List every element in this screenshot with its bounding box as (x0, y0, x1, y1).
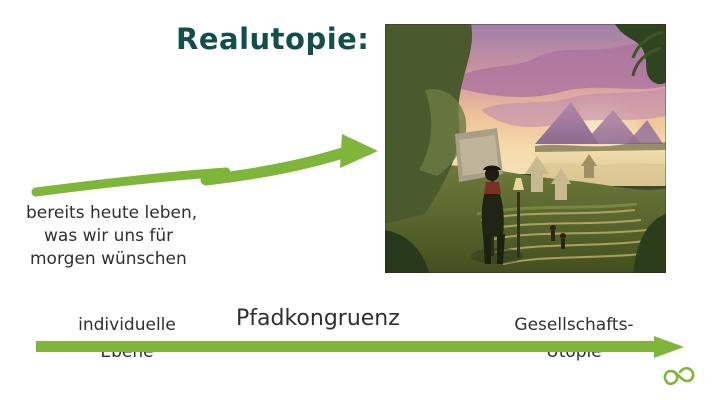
caption-line-1: bereits heute leben, (22, 202, 272, 225)
axis-center-label: Pfadkongruenz (236, 306, 400, 331)
horizontal-axis-arrow (36, 336, 684, 358)
slide-canvas: Realutopie: (0, 0, 711, 400)
utopian-landscape-painting (385, 24, 666, 273)
caption-line-3: morgen wünschen (22, 248, 272, 271)
page-title: Realutopie: (176, 22, 369, 56)
curved-arrow-to-illustration (20, 130, 420, 210)
infinity-loop-logo (662, 362, 696, 390)
arrow-caption: bereits heute leben, was wir uns für mor… (22, 202, 272, 271)
caption-line-2: was wir uns für (22, 225, 272, 248)
